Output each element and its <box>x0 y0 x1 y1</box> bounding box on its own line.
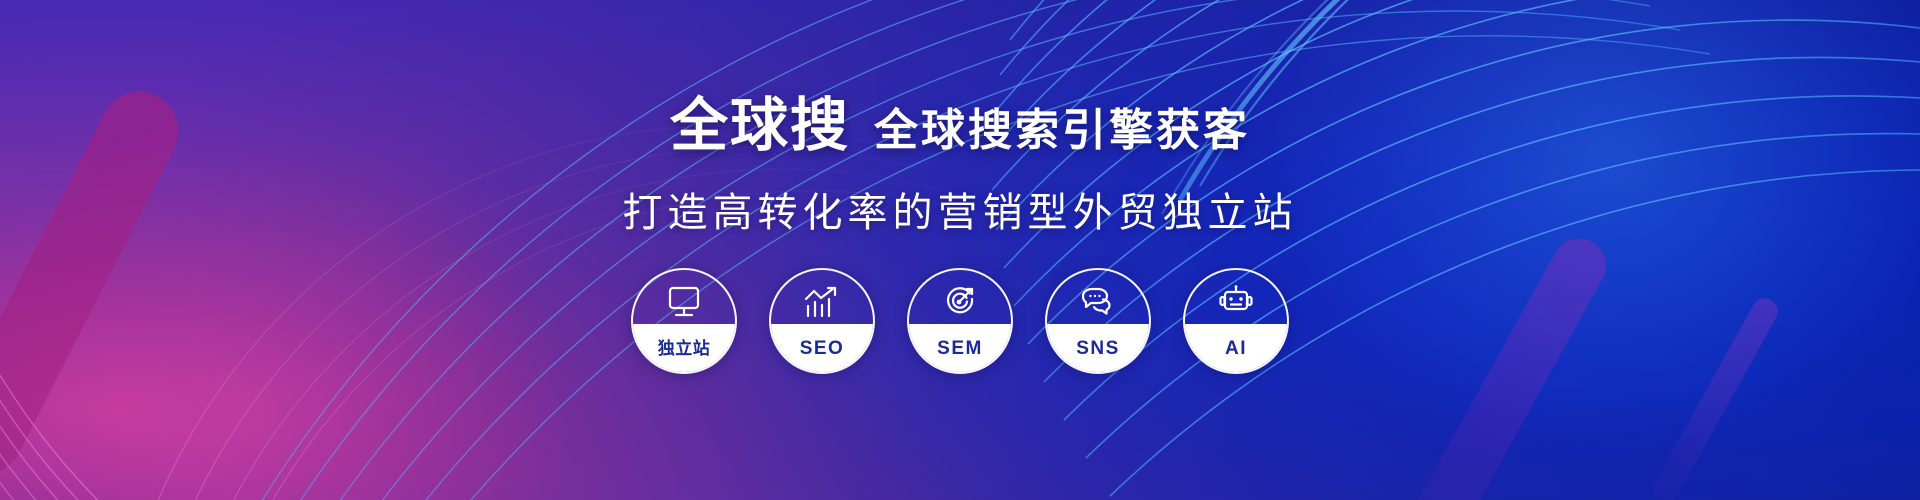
badge-label: SEM <box>937 339 983 358</box>
badge-ai[interactable]: AI <box>1183 268 1289 374</box>
badge-label: 独立站 <box>658 340 711 357</box>
target-dart-icon <box>909 276 1011 328</box>
title-tagline: 全球搜索引擎获客 <box>874 94 1250 158</box>
badge-label-plate: AI <box>1185 324 1287 372</box>
badge-label: AI <box>1225 339 1247 358</box>
banner-content: 全球搜 全球搜索引擎获客 打造高转化率的营销型外贸独立站 独立站 <box>0 0 1920 500</box>
banner-title: 全球搜 全球搜索引擎获客 <box>670 78 1250 162</box>
badge-sem[interactable]: SEM <box>907 268 1013 374</box>
service-badge-list: 独立站 SEO <box>631 268 1289 374</box>
badge-independent-site[interactable]: 独立站 <box>631 268 737 374</box>
badge-sns[interactable]: SNS <box>1045 268 1151 374</box>
monitor-icon <box>633 276 735 328</box>
badge-label-plate: SEM <box>909 324 1011 372</box>
brand-name: 全球搜 <box>670 78 850 162</box>
badge-seo[interactable]: SEO <box>769 268 875 374</box>
banner-subtitle: 打造高转化率的营销型外贸独立站 <box>623 180 1298 238</box>
chat-bubbles-icon <box>1047 276 1149 328</box>
badge-label-plate: SEO <box>771 324 873 372</box>
badge-label-plate: SNS <box>1047 324 1149 372</box>
badge-label-plate: 独立站 <box>633 324 735 372</box>
badge-label: SEO <box>800 339 845 358</box>
growth-chart-icon <box>771 276 873 328</box>
badge-label: SNS <box>1076 339 1120 358</box>
robot-icon <box>1185 276 1287 328</box>
marketing-banner: 全球搜 全球搜索引擎获客 打造高转化率的营销型外贸独立站 独立站 <box>0 0 1920 500</box>
